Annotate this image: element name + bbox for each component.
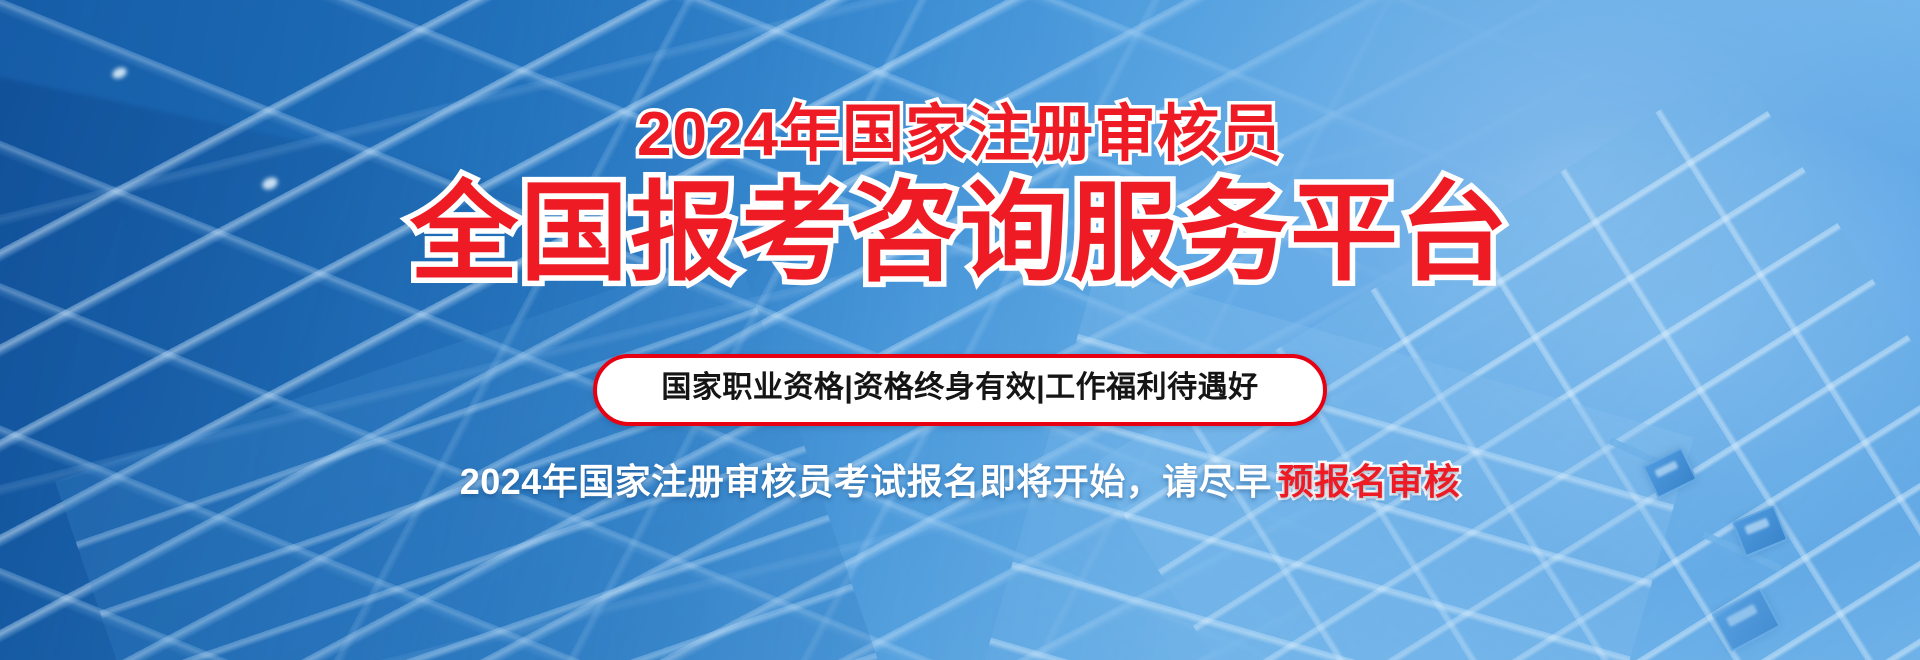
banner-content: 2024年国家注册审核员 全国报考咨询服务平台 国家职业资格|资格终身有效|工作…	[0, 0, 1920, 660]
banner-title-line-2: 全国报考咨询服务平台	[410, 178, 1510, 288]
banner-tagline-highlight: 预报名审核	[1278, 461, 1461, 502]
banner-tagline: 2024年国家注册审核员考试报名即将开始，请尽早预报名审核	[460, 462, 1461, 502]
banner-tagline-text: 2024年国家注册审核员考试报名即将开始，请尽早	[460, 461, 1272, 502]
feature-highlights-pill: 国家职业资格|资格终身有效|工作福利待遇好	[593, 354, 1326, 426]
banner-title-line-1: 2024年国家注册审核员	[637, 104, 1283, 166]
promo-banner: 2024年国家注册审核员 全国报考咨询服务平台 国家职业资格|资格终身有效|工作…	[0, 0, 1920, 660]
